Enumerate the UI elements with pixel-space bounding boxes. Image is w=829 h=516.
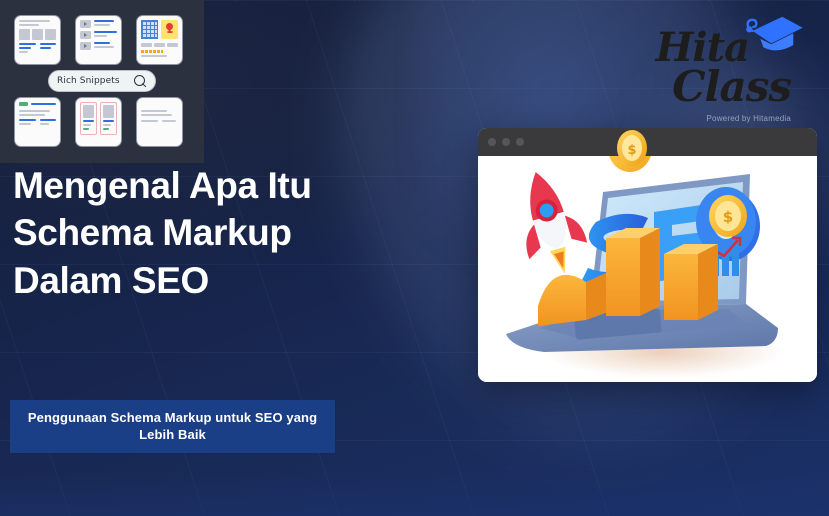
window-content: $ <box>478 156 817 382</box>
gold-coin-icon: $ <box>614 128 650 168</box>
play-icon <box>80 31 91 39</box>
seo-3d-illustration: $ <box>478 156 817 382</box>
search-icon[interactable] <box>134 75 147 88</box>
play-icon <box>80 42 91 50</box>
close-dot-icon[interactable] <box>488 138 496 146</box>
logo-powered-by: Powered by Hitamedia <box>707 114 791 123</box>
search-input[interactable]: Rich Snippets <box>48 70 156 92</box>
snippet-tile-row-top <box>14 15 183 65</box>
logo-word-class: Class <box>672 66 791 108</box>
svg-text:$: $ <box>723 208 733 226</box>
svg-text:$: $ <box>627 143 636 158</box>
brand-logo[interactable]: Hita Class Powered by Hitamedia <box>625 6 815 126</box>
maximize-dot-icon[interactable] <box>516 138 524 146</box>
table-icon <box>141 20 158 39</box>
play-icon <box>80 20 91 28</box>
tile-product-pair[interactable] <box>75 97 122 147</box>
tile-article-card[interactable] <box>14 15 61 65</box>
rating-stars-icon <box>141 50 163 53</box>
thumbnail-row <box>19 29 56 40</box>
map-pin-icon <box>161 20 178 39</box>
page-title: Mengenal Apa Itu Schema Markup Dalam SEO <box>13 162 383 304</box>
tile-plain-result[interactable] <box>136 97 183 147</box>
tile-local-map[interactable] <box>136 15 183 65</box>
tile-video-list[interactable] <box>75 15 122 65</box>
slide-canvas: Rich Snippets Mengenal Apa Itu Schema Ma… <box>0 0 829 516</box>
minimize-dot-icon[interactable] <box>502 138 510 146</box>
tile-breadcrumb-result[interactable] <box>14 97 61 147</box>
search-input-value: Rich Snippets <box>57 76 134 86</box>
bottom-gradient-strip <box>0 470 829 516</box>
subtitle-banner: Penggunaan Schema Markup untuk SEO yang … <box>10 400 335 453</box>
snippet-tile-row-bottom <box>14 97 183 147</box>
